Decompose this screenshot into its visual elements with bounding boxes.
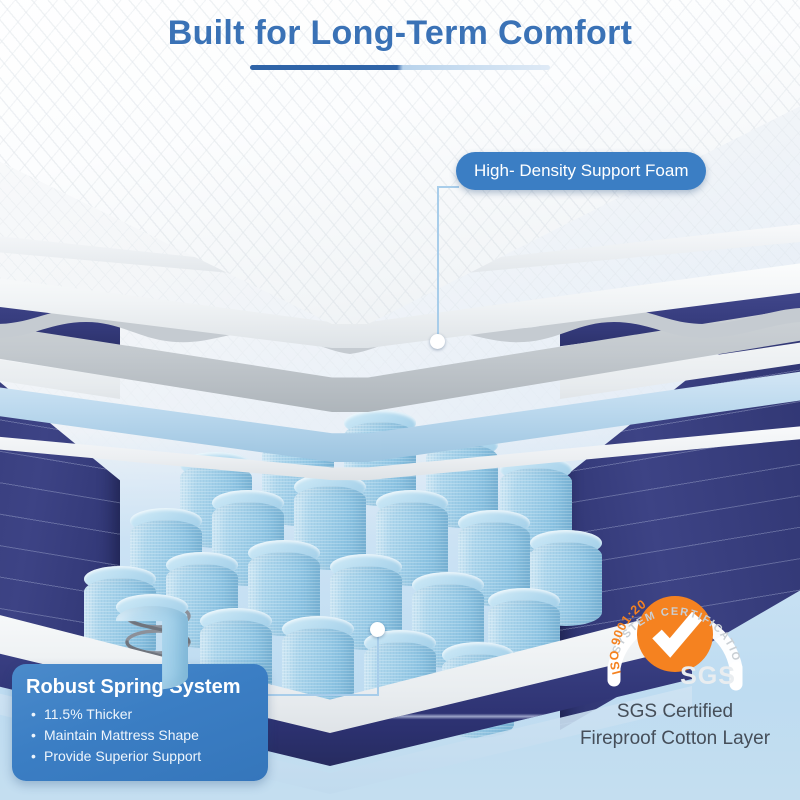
certification-caption-line1: SGS Certified xyxy=(560,698,790,725)
list-item: • 11.5% Thicker xyxy=(26,704,254,725)
certification-block: SYSTEM CERTIFICATION ISO 9001:2000 SGS S… xyxy=(560,572,790,752)
callout-high-density-support-foam[interactable]: High- Density Support Foam xyxy=(456,152,706,190)
list-item-label: Maintain Mattress Shape xyxy=(44,727,199,743)
bullet-glyph: • xyxy=(31,746,36,767)
title-underline xyxy=(250,65,550,70)
bullet-glyph: • xyxy=(31,704,36,725)
list-item: • Provide Superior Support xyxy=(26,746,254,767)
svg-text:SGS: SGS xyxy=(680,662,736,690)
foam-leader-horizontal xyxy=(437,186,459,188)
sgs-logo-icon: SYSTEM CERTIFICATION ISO 9001:2000 SGS xyxy=(600,572,750,692)
foam-callout-dot xyxy=(430,334,445,349)
foam-leader-vertical xyxy=(437,186,439,338)
certification-caption-line2: Fireproof Cotton Layer xyxy=(560,725,790,752)
spring-feature-list: • 11.5% Thicker • Maintain Mattress Shap… xyxy=(26,704,254,767)
page-title: Built for Long-Term Comfort xyxy=(0,14,800,53)
bullet-glyph: • xyxy=(31,725,36,746)
list-item-label: 11.5% Thicker xyxy=(44,706,132,722)
spring-leader-vertical xyxy=(377,636,379,696)
list-item-label: Provide Superior Support xyxy=(44,748,201,764)
page-title-block: Built for Long-Term Comfort xyxy=(0,14,800,70)
infographic-canvas: Built for Long-Term Comfort High- Densit… xyxy=(0,0,800,800)
certification-caption: SGS Certified Fireproof Cotton Layer xyxy=(560,698,790,752)
spring-callout-dot xyxy=(370,622,385,637)
coil-cutaway xyxy=(116,594,188,702)
list-item: • Maintain Mattress Shape xyxy=(26,725,254,746)
